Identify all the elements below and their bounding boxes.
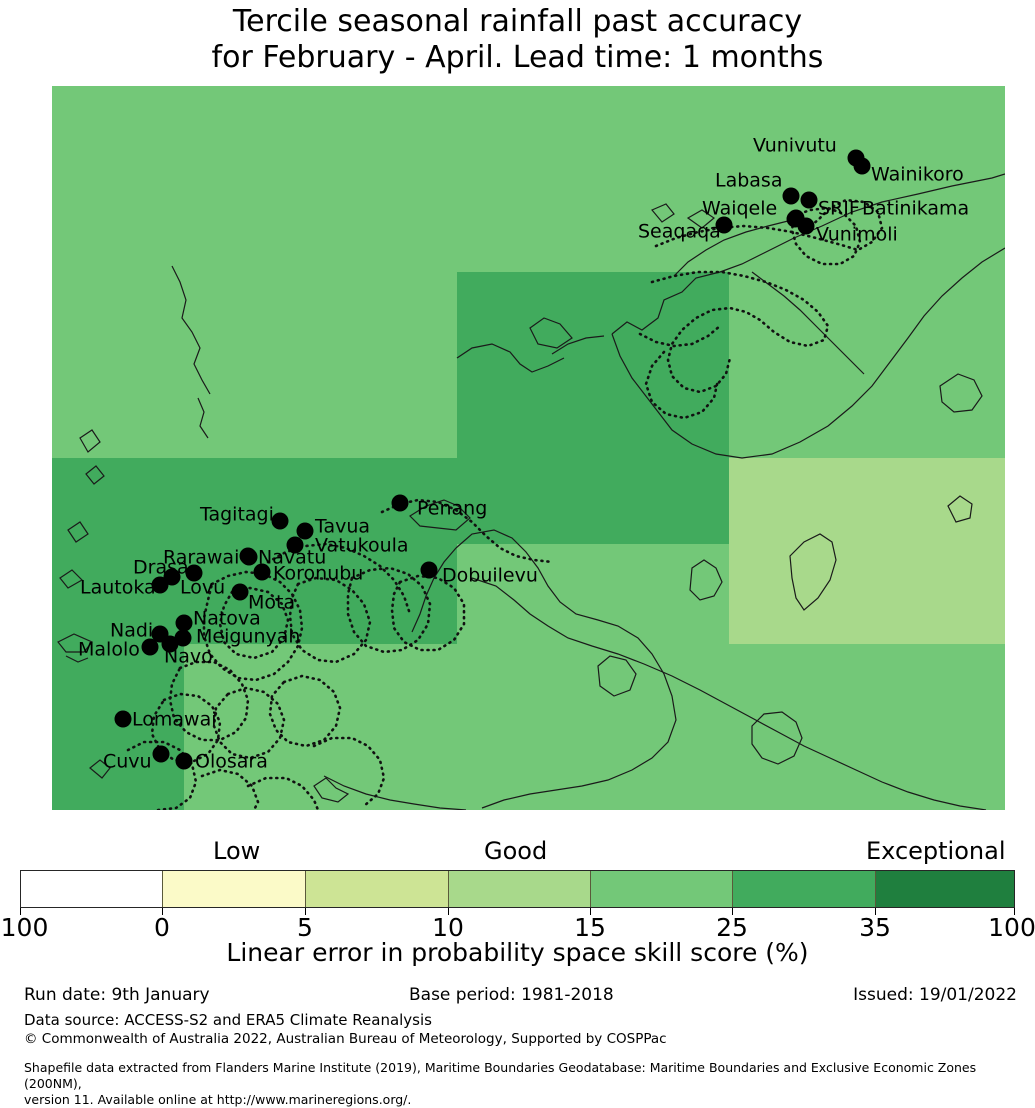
shapefile-attribution-line-1: Shapefile data extracted from Flanders M… bbox=[24, 1060, 1035, 1092]
station-dot-penang[interactable] bbox=[392, 495, 409, 512]
station-dot-malolo[interactable] bbox=[142, 639, 159, 656]
heatmap-cell-east bbox=[729, 458, 1005, 644]
station-dot-navatu[interactable] bbox=[240, 548, 257, 565]
station-label-wainikoro: Wainikoro bbox=[871, 166, 964, 185]
colorbar-tick-label-6: 35 bbox=[859, 914, 891, 941]
station-dot-wainikoro[interactable] bbox=[854, 158, 871, 175]
colorbar-segment-6 bbox=[876, 871, 1014, 907]
colorbar-segment-1 bbox=[163, 871, 306, 907]
colorbar-tick-label-2: 5 bbox=[297, 914, 313, 941]
title-line-1: Tercile seasonal rainfall past accuracy bbox=[233, 4, 802, 39]
issued-date-text: Issued: 19/01/2022 bbox=[853, 985, 1017, 1005]
colorbar-category-low: Low bbox=[213, 838, 260, 864]
station-label-olosara: Olosara bbox=[195, 753, 268, 772]
station-dot-koronubu[interactable] bbox=[254, 564, 271, 581]
station-label-penang: Penang bbox=[417, 500, 487, 519]
station-label-dobuilevu: Dobuilevu bbox=[442, 567, 538, 586]
station-dot-tagitagi[interactable] bbox=[272, 513, 289, 530]
footer-meta-row: Run date: 9th January Base period: 1981-… bbox=[0, 985, 1035, 1011]
colorbar-gradient[interactable] bbox=[20, 870, 1015, 908]
skill-score-map[interactable]: VunivutuWainikoroLabasaWaiqeleSRIFBatini… bbox=[52, 86, 1005, 810]
shapefile-attribution-line-2: version 11. Available online at http://w… bbox=[24, 1092, 1035, 1108]
colorbar-category-labels: Low Good Exceptional bbox=[0, 838, 1035, 868]
station-label-malolo: Malolo bbox=[78, 641, 140, 660]
station-label-meigunyah: Meigunyah bbox=[196, 628, 300, 647]
base-period-text: Base period: 1981-2018 bbox=[409, 985, 614, 1005]
station-dot-lomawai[interactable] bbox=[115, 711, 132, 728]
colorbar-segment-4 bbox=[591, 871, 733, 907]
run-date-text: Run date: 9th January bbox=[24, 985, 210, 1005]
station-dot-dobuilevu[interactable] bbox=[421, 562, 438, 579]
colorbar-tick-label-3: 10 bbox=[432, 914, 464, 941]
station-label-lovu: Lovu bbox=[180, 579, 225, 598]
station-label-lautoka: Lautoka bbox=[80, 579, 156, 598]
station-dot-labasa[interactable] bbox=[783, 188, 800, 205]
copyright-text: © Commonwealth of Australia 2022, Austra… bbox=[24, 1030, 1035, 1049]
station-label-lomawai: Lomawai bbox=[132, 711, 217, 730]
station-label-tagitagi: Tagitagi bbox=[200, 506, 274, 525]
station-label-vunivutu: Vunivutu bbox=[753, 137, 837, 156]
station-label-navo: Navo bbox=[164, 648, 213, 667]
station-dot-waiqele[interactable] bbox=[801, 192, 818, 209]
station-label-cuvu: Cuvu bbox=[103, 753, 152, 772]
station-label-koronubu: Koronubu bbox=[273, 565, 363, 584]
colorbar-ticks: -100 0 5 10 15 25 35 100 bbox=[0, 908, 1035, 938]
colorbar-tick-label-0: -100 bbox=[0, 914, 48, 941]
colorbar-segment-3 bbox=[449, 871, 591, 907]
station-dot-olosara[interactable] bbox=[176, 753, 193, 770]
title-line-2: for February - April. Lead time: 1 month… bbox=[0, 40, 1035, 76]
colorbar-tick-label-1: 0 bbox=[154, 914, 170, 941]
station-label-seaqaqa: Seaqaqa bbox=[638, 223, 721, 242]
station-dot-mota[interactable] bbox=[232, 584, 249, 601]
station-dot-cuvu[interactable] bbox=[153, 746, 170, 763]
station-label-batinikama: Batinikama bbox=[862, 200, 969, 219]
station-dot-lovu[interactable] bbox=[164, 569, 181, 586]
station-label-vatukoula: Vatukoula bbox=[315, 537, 409, 556]
colorbar-segment-5 bbox=[733, 871, 876, 907]
colorbar-segment-2 bbox=[306, 871, 449, 907]
station-label-waiqele: Waiqele bbox=[702, 200, 777, 219]
data-source-text: Data source: ACCESS-S2 and ERA5 Climate … bbox=[24, 1011, 1035, 1030]
page-title: Tercile seasonal rainfall past accuracy … bbox=[0, 0, 1035, 76]
colorbar-segment-0 bbox=[21, 871, 163, 907]
colorbar-tick-label-4: 15 bbox=[574, 914, 606, 941]
colorbar-category-exceptional: Exceptional bbox=[866, 838, 1006, 864]
station-dot-vunimoli[interactable] bbox=[798, 218, 815, 235]
station-label-srif: SRIF bbox=[818, 200, 860, 219]
colorbar-tick-label-7: 100 bbox=[988, 914, 1035, 941]
colorbar-legend: Low Good Exceptional -100 0 5 10 15 25 3… bbox=[0, 838, 1035, 963]
footer: Run date: 9th January Base period: 1981-… bbox=[0, 985, 1035, 1108]
heatmap-cell-north-central bbox=[457, 272, 729, 544]
station-label-vunimoli: Vunimoli bbox=[816, 226, 898, 245]
colorbar-category-good: Good bbox=[484, 838, 547, 864]
colorbar-tick-label-5: 25 bbox=[716, 914, 748, 941]
station-label-labasa: Labasa bbox=[715, 172, 782, 191]
colorbar-axis-label: Linear error in probability space skill … bbox=[0, 939, 1035, 967]
